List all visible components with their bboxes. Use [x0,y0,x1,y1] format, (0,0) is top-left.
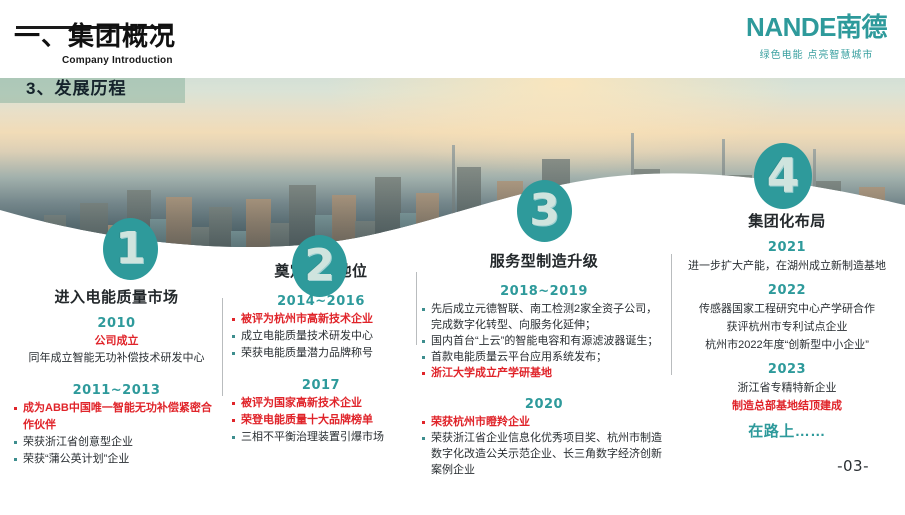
timeline-node-1-number: 1 [115,227,146,271]
page-title: 一、集团概况 [14,21,176,51]
list-item: 成立电能质量技术研发中心 [232,328,410,345]
logo-tagline: 绿色电能 点亮智慧城市 [746,46,887,61]
timeline-column-4-line: 杭州市2022年度“创新型中小企业” [676,336,898,354]
timeline-node-4: 4 [754,143,812,209]
list-item: 先后成立元德智联、南工检测2家全资子公司，完成数字化转型、向服务化延伸； [422,301,666,333]
timeline-column-2-year-2: 2017 [232,376,410,395]
timeline-column-3: 服务型制造升级 2018~2019 先后成立元德智联、南工检测2家全资子公司，完… [422,252,666,478]
timeline-column-4-line: 获评杭州市专利试点企业 [676,318,898,336]
timeline-column-1: 进入电能质量市场 2010 公司成立 同年成立智能无功补偿技术研发中心 2011… [14,288,219,468]
timeline-column-4-line: 进一步扩大产能，在湖州成立新制造基地 [676,257,898,275]
column-divider-1 [222,298,223,396]
list-item: 首款电能质量云平台应用系统发布； [422,349,666,365]
timeline-column-3-items-1: 先后成立元德智联、南工检测2家全资子公司，完成数字化转型、向服务化延伸； 国内首… [422,301,666,381]
timeline-node-2: 2 [292,235,347,297]
timeline-column-4-year-3: 2023 [676,360,898,379]
list-item: 国内首台“上云”的智能电容和有源滤波器诞生； [422,333,666,349]
timeline-column-4-line: 浙江省专精特新企业 [676,379,898,397]
timeline-column-4-year-2: 2022 [676,281,898,300]
timeline-column-2-items-2: 被评为国家高新技术企业 荣登电能质量十大品牌榜单 三相不平衡治理装置引爆市场 [232,395,410,446]
timeline-node-2-number: 2 [304,244,335,288]
list-item: 荣获杭州市瞪羚企业 [422,414,666,430]
timeline-column-1-year-2: 2011~2013 [14,381,219,400]
timeline-column-3-items-2: 荣获杭州市瞪羚企业 荣获浙江省企业信息化优秀项目奖、杭州市制造数字化改造公关示范… [422,414,666,478]
column-divider-3 [671,254,672,375]
timeline-column-3-title: 服务型制造升级 [422,252,666,272]
slide-bottom-edge [0,507,905,515]
timeline-column-4-line: 传感器国家工程研究中心产学研合作 [676,300,898,318]
timeline-column-4-year-1: 2021 [676,238,898,257]
timeline-column-4-footer: 在路上…… [676,421,898,443]
list-item: 被评为杭州市高新技术企业 [232,311,410,328]
timeline-column-1-title: 进入电能质量市场 [14,288,219,308]
column-divider-2 [416,272,417,345]
page-number: -03- [837,457,869,475]
timeline-node-4-number: 4 [767,153,800,200]
list-item: 荣获浙江省创意型企业 [14,434,219,451]
list-item: 被评为国家高新技术企业 [232,395,410,412]
timeline-column-3-year-1: 2018~2019 [422,282,666,301]
timeline-node-1: 1 [103,218,158,280]
list-item: 三相不平衡治理装置引爆市场 [232,429,410,446]
list-item: 浙江大学成立产学研基地 [422,365,666,381]
timeline-column-4-line-red: 制造总部基地结顶建成 [676,397,898,415]
list-item: 荣获浙江省企业信息化优秀项目奖、杭州市制造数字化改造公关示范企业、长三角数字经济… [422,430,666,478]
page-subtitle-english: Company Introduction [62,55,173,66]
list-item: 荣登电能质量十大品牌榜单 [232,412,410,429]
timeline-column-1-year-1: 2010 [14,314,219,333]
timeline-column-1-lead-black: 同年成立智能无功补偿技术研发中心 [14,350,219,367]
timeline-column-4: 集团化布局 2021 进一步扩大产能，在湖州成立新制造基地 2022 传感器国家… [676,212,898,443]
timeline-column-1-lead-red: 公司成立 [14,333,219,350]
list-item: 成为ABB中国唯一智能无功补偿紧密合作伙伴 [14,400,219,434]
list-item: 荣获“蒲公英计划”企业 [14,451,219,468]
timeline-node-3: 3 [517,180,572,242]
slide-canvas: 一、集团概况 Company Introduction NANDE南德 绿色电能… [0,0,905,515]
timeline-column-1-items: 成为ABB中国唯一智能无功补偿紧密合作伙伴 荣获浙江省创意型企业 荣获“蒲公英计… [14,400,219,468]
brand-logo: NANDE南德 绿色电能 点亮智慧城市 [746,12,887,61]
timeline-column-4-title: 集团化布局 [676,212,898,232]
logo-wordmark: NANDE南德 [746,12,887,42]
list-item: 荣获电能质量潜力品牌称号 [232,345,410,362]
timeline-column-3-year-2: 2020 [422,395,666,414]
timeline-column-2-items-1: 被评为杭州市高新技术企业 成立电能质量技术研发中心 荣获电能质量潜力品牌称号 [232,311,410,362]
timeline-node-3-number: 3 [529,189,560,233]
